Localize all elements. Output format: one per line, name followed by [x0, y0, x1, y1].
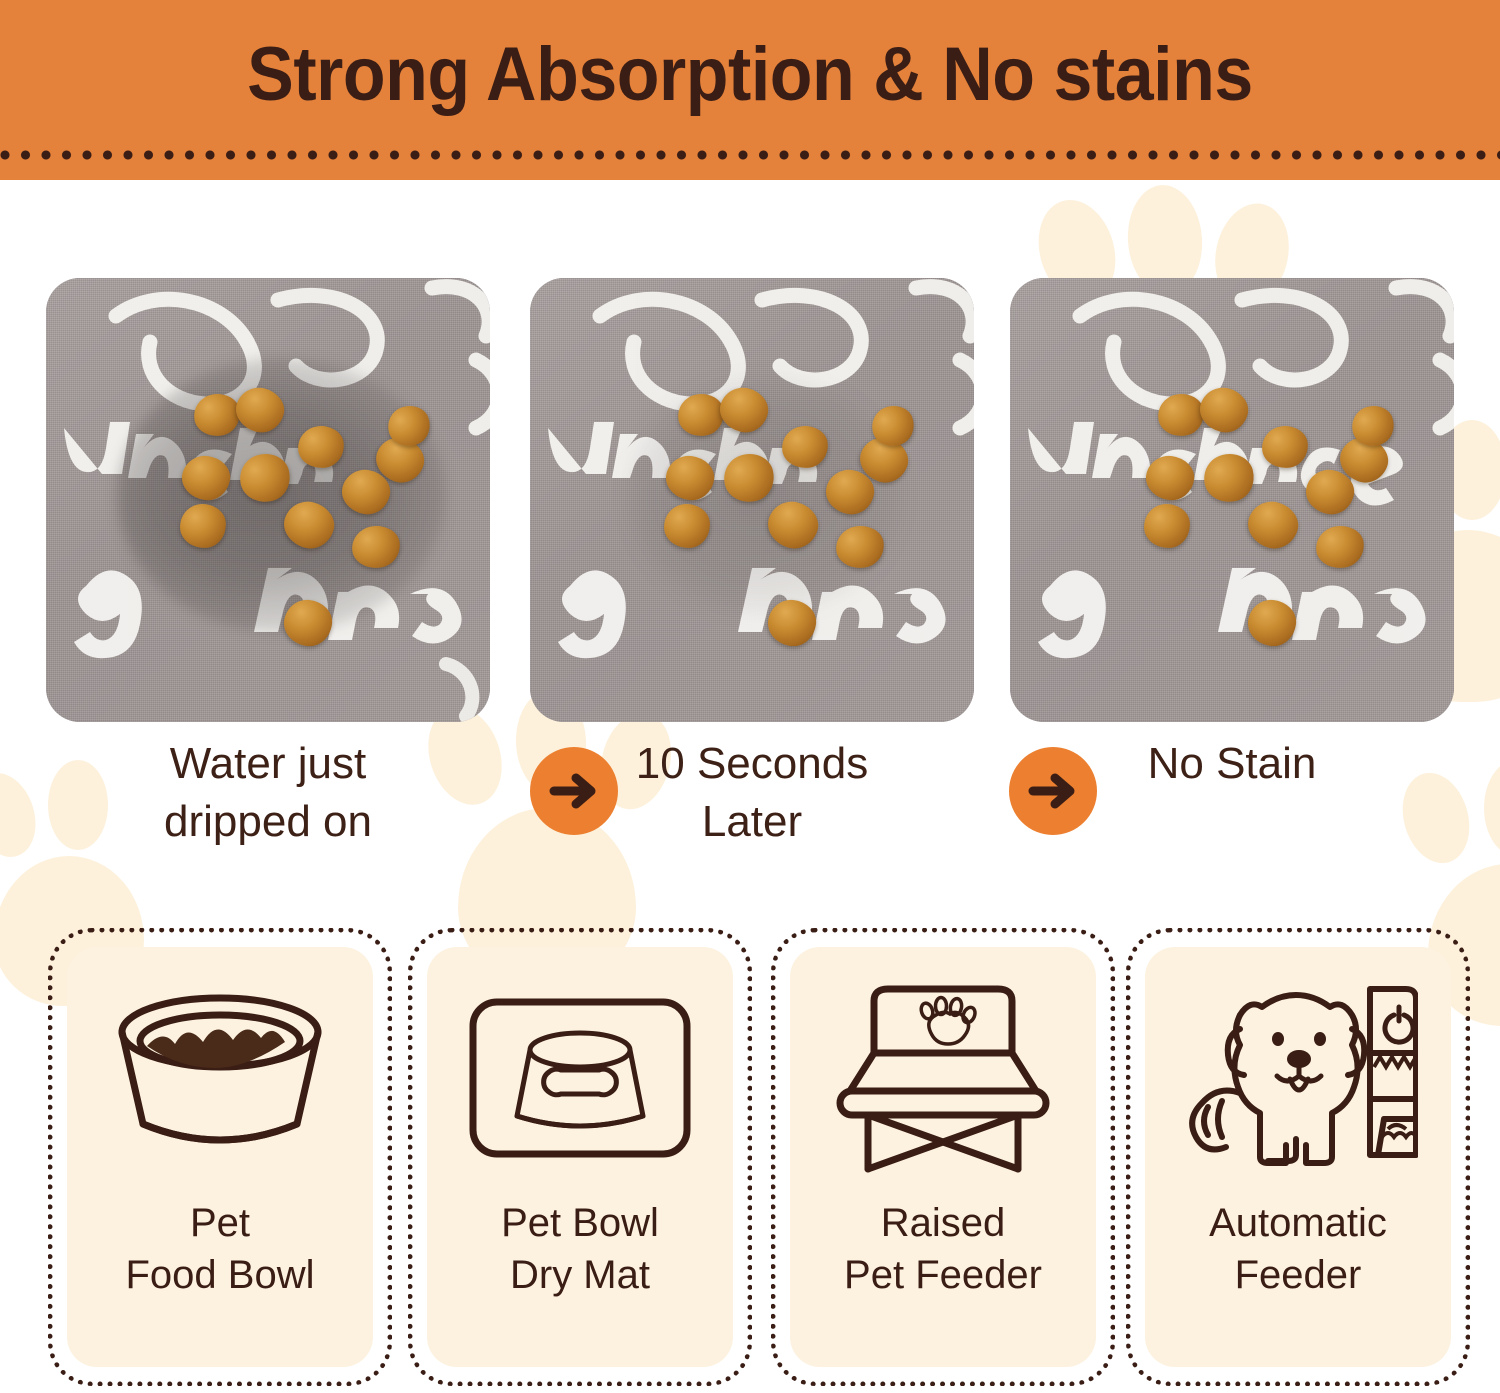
header-dotted-divider — [0, 148, 1500, 162]
arrow-right-icon — [1009, 747, 1097, 835]
demo-photo-no-stain — [1010, 278, 1454, 722]
raised-pet-feeder-icon — [828, 947, 1058, 1197]
use-case-card-automatic-feeder[interactable]: Automatic Feeder — [1126, 928, 1470, 1386]
automatic-feeder-icon — [1178, 947, 1418, 1197]
use-case-card-pet-bowl-dry-mat[interactable]: Pet Bowl Dry Mat — [408, 928, 752, 1386]
caption-water-dripped: Water just dripped on — [46, 735, 490, 851]
card-label-raised-pet-feeder: Raised Pet Feeder — [844, 1197, 1042, 1301]
use-case-cards-row: Pet Food Bowl Pet Bowl Dr — [48, 928, 1460, 1386]
arrow-right-icon — [530, 747, 618, 835]
pet-food-bowl-icon — [105, 947, 335, 1197]
demo-photo-10-seconds — [530, 278, 974, 722]
use-case-card-raised-pet-feeder[interactable]: Raised Pet Feeder — [771, 928, 1115, 1386]
infographic-page: Strong Absorption & No stains — [0, 0, 1500, 1393]
demo-captions: Water just dripped on 10 Seconds Later N… — [46, 735, 1454, 855]
arrow-right-glyph — [548, 765, 600, 817]
arrow-right-glyph — [1027, 765, 1079, 817]
card-label-pet-bowl-dry-mat: Pet Bowl Dry Mat — [501, 1197, 659, 1301]
absorption-demo-row — [46, 278, 1454, 722]
header-banner: Strong Absorption & No stains — [0, 0, 1500, 180]
demo-photo-water-dripped — [46, 278, 490, 722]
pet-bowl-dry-mat-icon — [465, 947, 695, 1197]
page-title: Strong Absorption & No stains — [60, 30, 1440, 120]
card-label-automatic-feeder: Automatic Feeder — [1209, 1197, 1387, 1301]
card-label-pet-food-bowl: Pet Food Bowl — [126, 1197, 315, 1301]
use-case-card-pet-food-bowl[interactable]: Pet Food Bowl — [48, 928, 392, 1386]
